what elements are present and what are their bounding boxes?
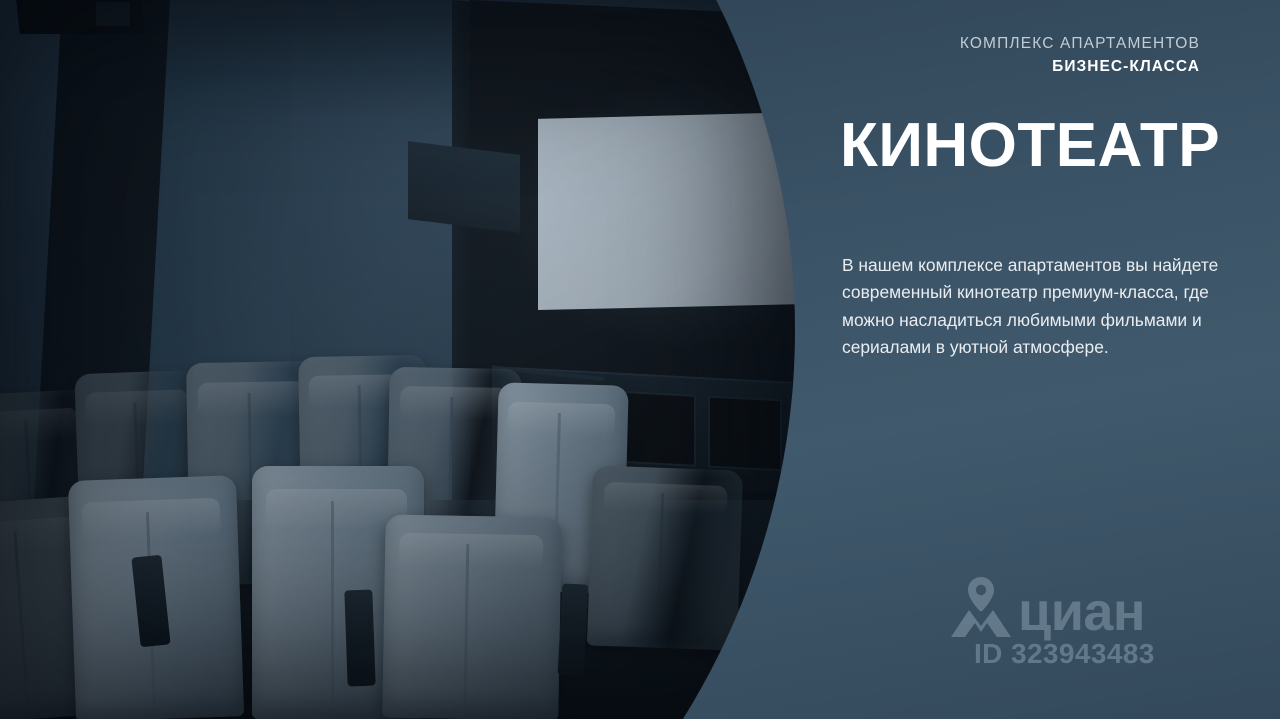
listing-id: ID 323943483 [974, 638, 1155, 670]
eyebrow-line-1: КОМПЛЕКС АПАРТАМЕНТОВ [800, 34, 1200, 54]
cinema-promo-slide: КОМПЛЕКС АПАРТАМЕНТОВ БИЗНЕС-КЛАССА КИНО… [0, 0, 1280, 719]
description-text: В нашем комплексе апартаментов вы найдет… [842, 252, 1246, 361]
page-title: КИНОТЕАТР [840, 110, 1220, 181]
theater-photo [0, 0, 800, 719]
cian-brand-text: циан [1018, 588, 1145, 638]
photo-vignette [0, 0, 800, 719]
eyebrow-line-2: БИЗНЕС-КЛАССА [800, 57, 1200, 77]
cian-watermark: циан ID 323943483 [948, 576, 1208, 676]
eyebrow-heading: КОМПЛЕКС АПАРТАМЕНТОВ БИЗНЕС-КЛАССА [800, 34, 1200, 77]
cian-logo: циан [948, 576, 1145, 638]
cian-pin-logo-icon [948, 576, 1014, 638]
